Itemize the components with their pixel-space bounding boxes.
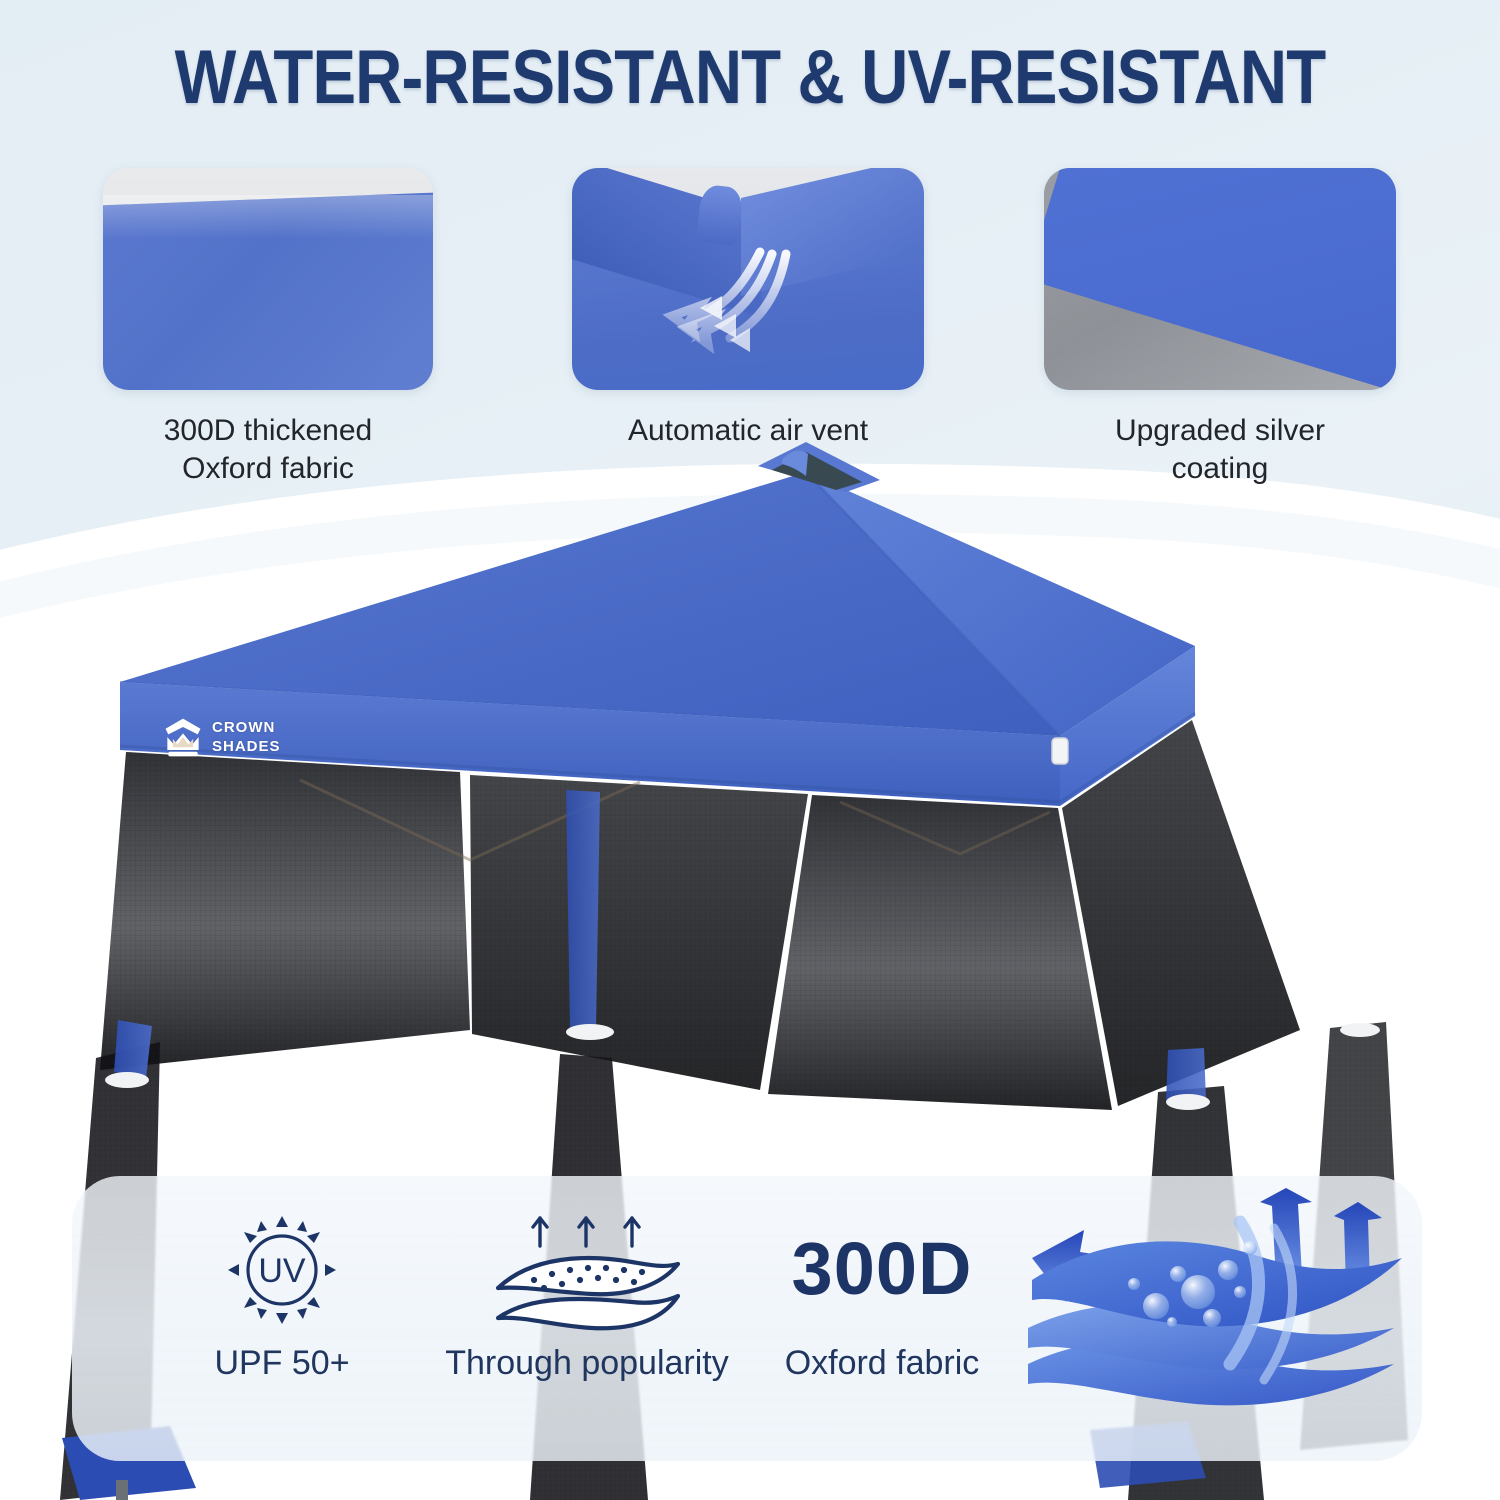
crown-shades-logo: CROWN SHADES bbox=[160, 714, 300, 764]
netting-tie-left bbox=[105, 1072, 149, 1088]
bottom-feature-breathable-label: Through popularity bbox=[422, 1344, 752, 1383]
netting-tie-right-front bbox=[1166, 1094, 1210, 1110]
netting-tie-center bbox=[566, 1024, 614, 1040]
brand-wordmark: CROWN SHADES bbox=[212, 718, 281, 756]
netting-tie-right-back bbox=[1340, 1023, 1380, 1037]
denier-value: 300D bbox=[732, 1226, 1032, 1311]
bottom-feature-denier-label: Oxford fabric bbox=[732, 1344, 1032, 1383]
bottom-feature-denier[interactable]: 300D Oxford fabric bbox=[732, 1176, 1032, 1461]
canopy-air-vent-closeup bbox=[572, 168, 924, 390]
uv-sun-icon: UV bbox=[220, 1210, 344, 1334]
breathable-fabric-layers-icon bbox=[482, 1210, 692, 1338]
bottom-feature-waterproof-graphic bbox=[1002, 1176, 1422, 1461]
feature-card-vent[interactable]: Automatic air vent bbox=[572, 168, 924, 450]
page-headline: WATER-RESISTANT & UV-RESISTANT bbox=[105, 34, 1395, 121]
bottom-feature-bar: UV UPF 50+ bbox=[72, 1176, 1422, 1461]
bottom-feature-breathable[interactable]: Through popularity bbox=[422, 1176, 752, 1461]
oxford-fabric-closeup bbox=[103, 168, 433, 390]
brand-line-2: SHADES bbox=[212, 737, 281, 756]
waterproof-layered-fabric-icon bbox=[1002, 1188, 1422, 1448]
bottom-feature-upf[interactable]: UV UPF 50+ bbox=[132, 1176, 432, 1461]
airflow-arrows-icon bbox=[572, 168, 924, 390]
svg-text:UV: UV bbox=[258, 1252, 306, 1290]
canopy-corner-clip bbox=[1052, 738, 1068, 764]
product-infographic: WATER-RESISTANT & UV-RESISTANT 300D thic… bbox=[0, 0, 1500, 1500]
crown-mark-icon bbox=[160, 716, 206, 760]
brand-line-1: CROWN bbox=[212, 718, 281, 737]
silver-coating-underside bbox=[1044, 168, 1396, 390]
bottom-feature-upf-label: UPF 50+ bbox=[132, 1344, 432, 1383]
